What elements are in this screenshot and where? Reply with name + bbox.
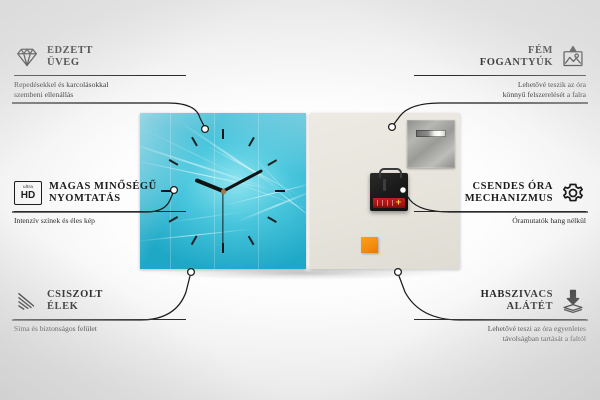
clock-mechanism: +	[370, 173, 408, 211]
divider	[14, 319, 186, 320]
gear-icon	[560, 180, 586, 206]
ultra-hd-main-label: HD	[21, 191, 35, 201]
divider	[414, 75, 586, 76]
divider	[14, 75, 186, 76]
feature-polished-edges: CSISZOLT ÉLEK Sima és biztonságos felüle…	[14, 286, 186, 334]
feature-title: CSISZOLT ÉLEK	[47, 289, 103, 313]
battery-compartment: +	[373, 198, 405, 208]
feature-description: Intenzív színek és éles kép	[14, 216, 186, 226]
connector-dot-foam	[395, 269, 402, 276]
feature-tempered-glass: EDZETT ÜVEG Repedésekkel és karcolásokka…	[14, 42, 186, 100]
clock-center-cap	[221, 189, 226, 194]
feature-description: Lehetővé teszi az óra egyenletes távolsá…	[414, 324, 586, 344]
divider	[414, 319, 586, 320]
hanger-slot	[416, 130, 446, 137]
feature-title: CSENDES ÓRA MECHANIZMUS	[465, 181, 553, 205]
feature-title: MAGAS MINŐSÉGŰ NYOMTATÁS	[49, 181, 157, 205]
feature-silent-mechanism: CSENDES ÓRA MECHANIZMUS Óramutatók hang …	[414, 178, 586, 226]
picture-hanger-icon	[560, 44, 586, 70]
feature-title: HABSZIVACS ALÁTÉT	[481, 289, 553, 313]
feature-description: Repedésekkel és karcolásokkal szembeni e…	[14, 80, 186, 100]
feature-description: Óramutatók hang nélkül	[414, 216, 586, 226]
battery-plus-label: +	[395, 199, 402, 206]
metal-hanger-plate	[407, 120, 455, 168]
feature-description: Sima és biztonságos felület	[14, 324, 186, 334]
feature-high-quality-print: ultra HD MAGAS MINŐSÉGŰ NYOMTATÁS Intenz…	[14, 178, 186, 226]
clock-second-hand	[222, 191, 223, 243]
clock-hour-hand	[194, 178, 223, 193]
foam-pad-icon	[560, 288, 586, 314]
feature-description: Lehetővé teszik az óra könnyű felszerelé…	[414, 80, 586, 100]
ultra-hd-icon: ultra HD	[14, 181, 42, 205]
product-photo-group: +	[140, 113, 460, 269]
feature-metal-handles: FÉM FOGANTYÚK Lehetővé teszik az óra kön…	[414, 42, 586, 100]
diamond-icon	[14, 44, 40, 70]
feature-foam-pad: HABSZIVACS ALÁTÉT Lehetővé teszi az óra …	[414, 286, 586, 344]
feature-title: FÉM FOGANTYÚK	[480, 45, 553, 69]
connector-dot-edges	[188, 269, 195, 276]
foam-pad-sample	[361, 237, 378, 253]
feature-title: EDZETT ÜVEG	[47, 45, 93, 69]
divider	[414, 211, 586, 212]
polished-edges-icon	[14, 288, 40, 314]
mechanism-shaft	[383, 179, 386, 191]
divider	[14, 211, 186, 212]
mechanism-hanger	[379, 168, 402, 178]
infographic-canvas: +	[0, 0, 600, 400]
